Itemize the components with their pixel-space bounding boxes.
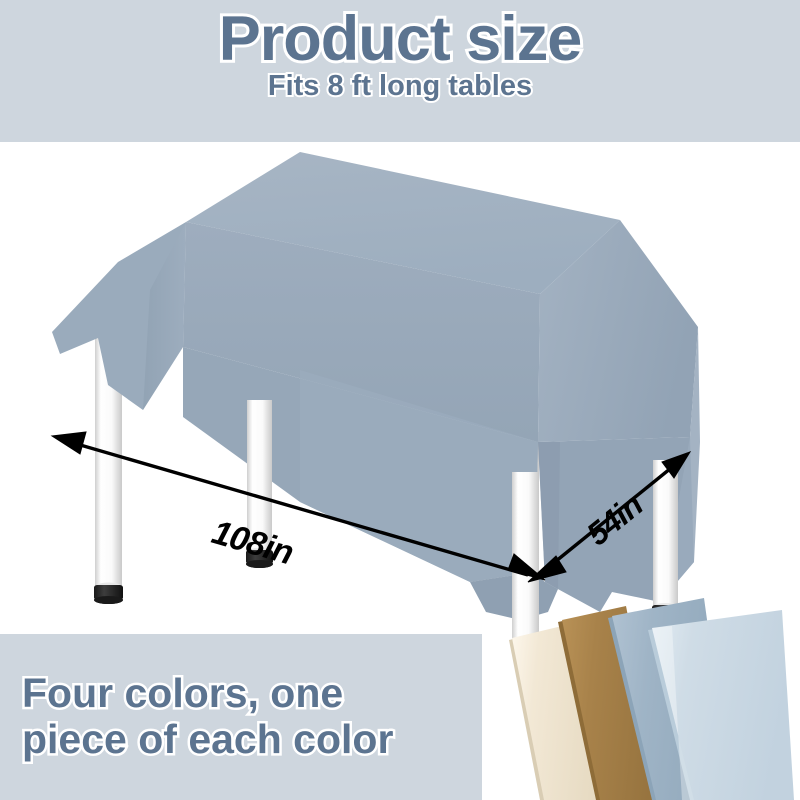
header-band: Product size Fits 8 ft long tables: [0, 0, 800, 142]
banner-line-1: Four colors, one: [22, 671, 482, 717]
product-size-infographic: Product size Fits 8 ft long tables: [0, 0, 800, 800]
banner-line-2: piece of each color: [22, 717, 482, 763]
table-leg-back-right-foreground: [652, 460, 679, 623]
table-leg-front-left-foreground: [94, 407, 123, 604]
page-subtitle: Fits 8 ft long tables: [268, 70, 532, 103]
bottom-banner: Four colors, one piece of each color: [0, 634, 482, 800]
length-arrow-head-left: [52, 432, 86, 454]
product-scene: 108in 54in: [0, 142, 800, 642]
swatch-ivory: [509, 626, 604, 800]
table-leg-front-right-foreground: [512, 472, 539, 622]
page-title: Product size: [219, 6, 582, 72]
